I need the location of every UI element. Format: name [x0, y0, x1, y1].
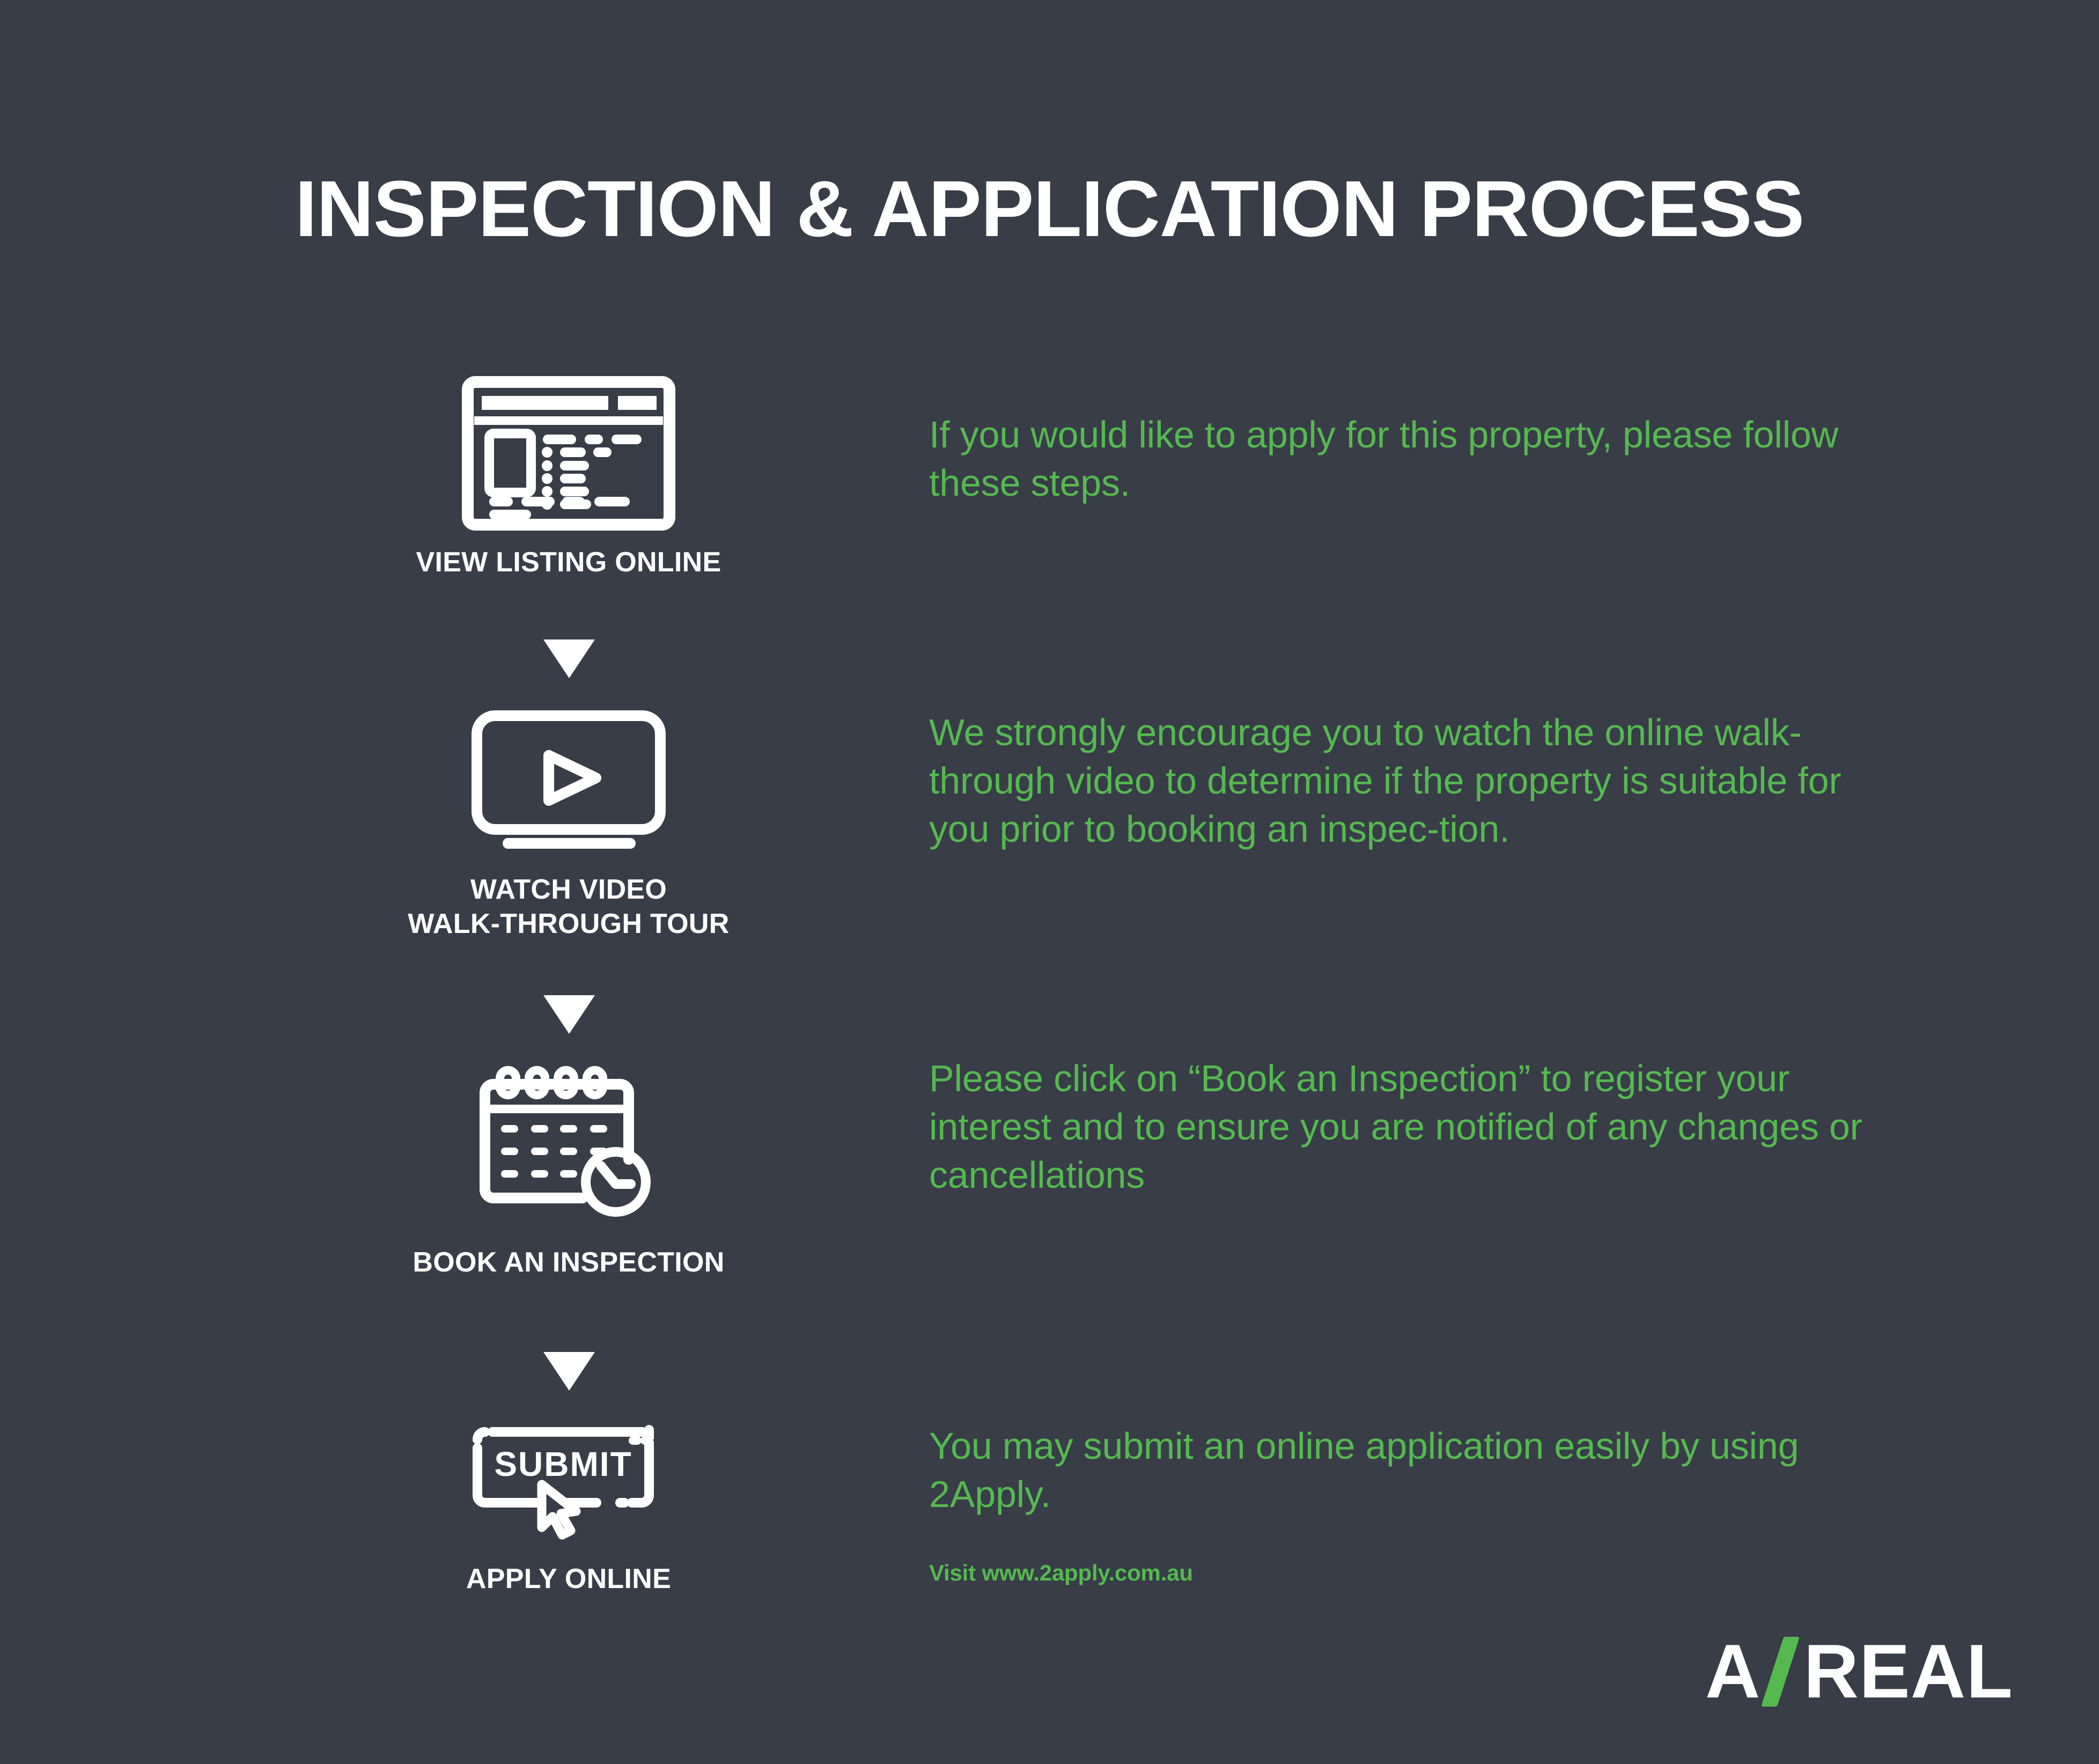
logo-slash-icon [1766, 1637, 1800, 1707]
step-2-icon-column: WATCH VIDEO WALK-THROUGH TOUR [402, 708, 735, 941]
step-4-text: You may submit an online application eas… [929, 1422, 1889, 1588]
arrow-down-icon-2 [543, 995, 595, 1034]
arrow-down-icon-1 [543, 640, 595, 678]
visit-link[interactable]: Visit www.2apply.com.au [929, 1558, 1889, 1588]
step-3-label: BOOK AN INSPECTION [402, 1245, 735, 1280]
step-1-icon-column: VIEW LISTING ONLINE [402, 376, 735, 579]
submit-button-cursor-icon: SUBMIT [402, 1424, 735, 1548]
step-3-text: Please click on “Book an Inspection” to … [929, 1054, 1889, 1199]
video-play-monitor-icon [402, 708, 735, 858]
logo-word-real: REAL [1803, 1628, 2013, 1716]
arrow-down-icon-3 [543, 1352, 595, 1391]
step-2-label: WATCH VIDEO WALK-THROUGH TOUR [402, 872, 735, 941]
process-steps: VIEW LISTING ONLINE If you would like to… [0, 0, 2099, 1764]
step-3-icon-column: BOOK AN INSPECTION [402, 1060, 735, 1280]
logo-letter-a: A [1705, 1628, 1761, 1716]
step-2-text: We strongly encourage you to watch the o… [929, 708, 1889, 853]
browser-listing-icon [402, 376, 735, 531]
step-1-text: If you would like to apply for this prop… [929, 410, 1889, 507]
calendar-clock-icon [402, 1060, 735, 1231]
svg-text:SUBMIT: SUBMIT [494, 1445, 632, 1483]
step-4-label: APPLY ONLINE [402, 1562, 735, 1596]
infographic-page: INSPECTION & APPLICATION PROCESS [0, 0, 2099, 1764]
step-4-icon-column: SUBMIT APPLY ONLINE [402, 1424, 735, 1596]
brand-logo: A REAL [1705, 1628, 2013, 1716]
step-1-label: VIEW LISTING ONLINE [402, 545, 735, 579]
step-4-body: You may submit an online application eas… [929, 1422, 1889, 1518]
